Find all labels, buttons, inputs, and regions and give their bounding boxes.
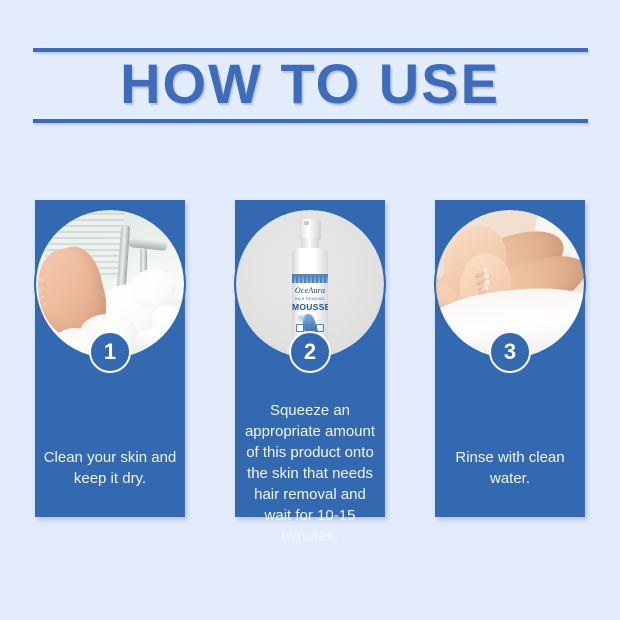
page-title: HOW TO USE <box>0 50 620 118</box>
fingernail-shape <box>483 286 489 292</box>
step-card-1: 1 Clean your skin and keep it dry. <box>35 200 185 517</box>
label-top-splash-shape <box>292 274 328 283</box>
step-caption-2: Squeeze an appropriate amount of this pr… <box>243 400 377 547</box>
step-card-3: 3 Rinse with clean water. <box>435 200 585 517</box>
product-bottle-shape: OceAura HAIR REMOVAL MOUSSE NET 100ML/3.… <box>290 219 330 349</box>
step-number-badge-3: 3 <box>489 331 531 373</box>
step-number-badge-2: 2 <box>289 331 331 373</box>
bottle-subtitle-text: HAIR REMOVAL <box>292 297 328 301</box>
step-card-2: OceAura HAIR REMOVAL MOUSSE NET 100ML/3.… <box>235 200 385 517</box>
toe-shape <box>41 303 48 310</box>
label-icon-1 <box>296 324 304 332</box>
step-caption-3: Rinse with clean water. <box>443 447 577 489</box>
step-number-badge-1: 1 <box>89 331 131 373</box>
foam-bubble-shape <box>131 269 175 307</box>
label-icon-3 <box>316 324 324 332</box>
bottle-product-name-text: MOUSSE <box>292 302 328 312</box>
step-caption-1: Clean your skin and keep it dry. <box>43 447 177 489</box>
faucet-spout-shape <box>129 238 168 251</box>
steps-row: 1 Clean your skin and keep it dry. OceAu… <box>0 160 620 560</box>
bottle-pump-cap-shape <box>299 219 321 240</box>
header: HOW TO USE <box>0 0 620 150</box>
title-bottom-rule <box>33 119 588 123</box>
bottle-brand-text: OceAura <box>292 286 328 295</box>
foam-bubble-shape <box>151 305 184 335</box>
